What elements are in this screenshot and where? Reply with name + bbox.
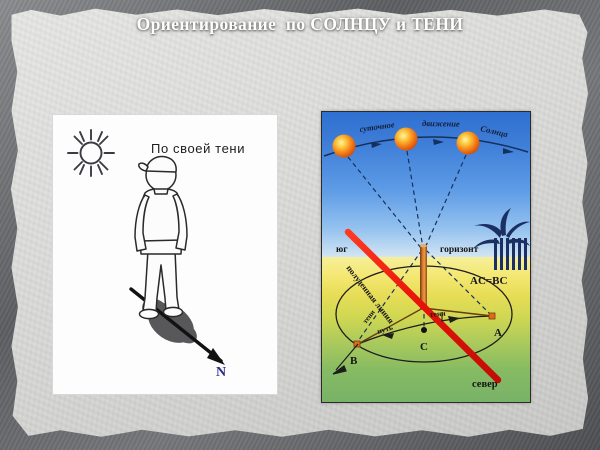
label-south: юг <box>336 245 348 255</box>
sun-afternoon-icon <box>457 132 480 155</box>
point-a-marker <box>489 313 495 319</box>
left-illustration-card: По своей тени <box>52 114 278 395</box>
sun-shadow-diagram: суточное движение Солнца <box>322 112 530 402</box>
page-title: Ориентирование по СОЛНЦУ и ТЕНИ <box>137 14 464 35</box>
right-illustration-card: суточное движение Солнца <box>321 111 531 403</box>
point-c-marker <box>421 327 427 333</box>
label-north: север <box>472 379 498 390</box>
title-bar: Ориентирование по СОЛНЦУ и ТЕНИ <box>0 14 600 35</box>
standing-person-icon <box>135 157 187 319</box>
label-point-b: B <box>350 355 358 367</box>
arc-label-1: суточное <box>359 119 395 134</box>
sun-noon-icon <box>395 128 418 151</box>
label-shadow: тени <box>429 309 446 319</box>
arc-label-2: движение <box>422 118 460 129</box>
arc-direction-arrows <box>371 139 514 154</box>
sun-ray-lines <box>348 151 466 248</box>
sun-morning-icon <box>333 135 356 158</box>
arc-label-3: Солнца <box>480 123 510 139</box>
label-horizon: горизонт <box>440 245 479 255</box>
label-point-c: C <box>420 341 428 353</box>
label-point-a: A <box>494 327 502 339</box>
north-direction-label: N <box>216 365 226 381</box>
palm-tree-icon <box>473 208 530 270</box>
label-equality: AC=BC <box>470 275 507 287</box>
person-with-shadow-illustration <box>53 115 277 394</box>
